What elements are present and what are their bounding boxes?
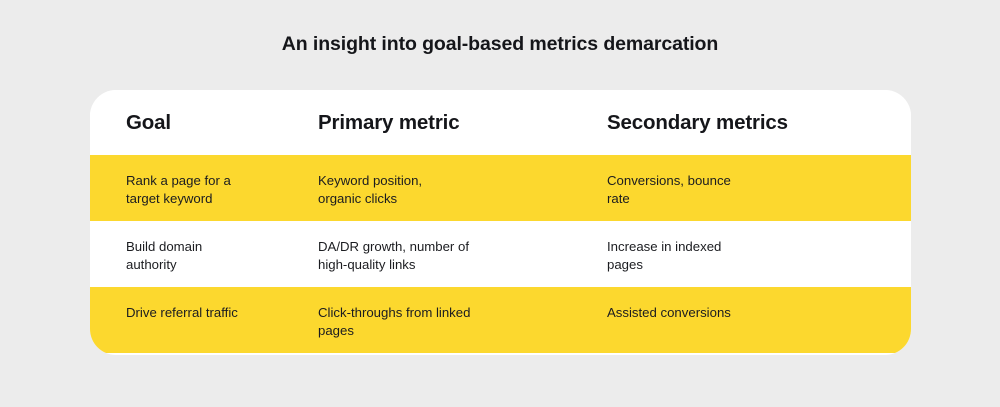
cell-text: Keyword position, organic clicks <box>318 172 593 207</box>
table-header-cell-secondary-metrics: Secondary metrics <box>607 111 911 135</box>
cell-text: Drive referral traffic <box>126 304 298 322</box>
column-header-label: Secondary metrics <box>607 111 897 135</box>
infographic-page: An insight into goal-based metrics demar… <box>0 0 1000 407</box>
cell-text: Increase in indexed pages <box>607 238 897 273</box>
cell-text: Assisted conversions <box>607 304 897 322</box>
table-row: Build domain authority DA/DR growth, num… <box>90 221 911 287</box>
table-header-row: Goal Primary metric Secondary metrics <box>90 90 911 155</box>
table-row: Drive referral traffic Click-throughs fr… <box>90 287 911 353</box>
table-row: Rank a page for a target keyword Keyword… <box>90 155 911 221</box>
table-cell-primary-metric: Keyword position, organic clicks <box>312 172 607 207</box>
table-cell-secondary-metrics: Conversions, bounce rate <box>607 172 911 207</box>
column-header-label: Primary metric <box>318 111 593 135</box>
table-header-cell-goal: Goal <box>90 111 312 135</box>
table-header-cell-primary-metric: Primary metric <box>312 111 607 135</box>
table-cell-primary-metric: Click-throughs from linked pages <box>312 304 607 339</box>
cell-text: Build domain authority <box>126 238 298 273</box>
page-title: An insight into goal-based metrics demar… <box>0 33 1000 56</box>
table-cell-primary-metric: DA/DR growth, number of high-quality lin… <box>312 238 607 273</box>
cell-text: Click-throughs from linked pages <box>318 304 593 339</box>
table-cell-secondary-metrics: Increase in indexed pages <box>607 238 911 273</box>
column-header-label: Goal <box>126 111 298 135</box>
table-cell-goal: Rank a page for a target keyword <box>90 172 312 207</box>
table-cell-secondary-metrics: Assisted conversions <box>607 304 911 322</box>
table-cell-goal: Build domain authority <box>90 238 312 273</box>
cell-text: Rank a page for a target keyword <box>126 172 298 207</box>
cell-text: DA/DR growth, number of high-quality lin… <box>318 238 593 273</box>
metrics-table-card: Goal Primary metric Secondary metrics Ra… <box>90 90 911 355</box>
table-cell-goal: Drive referral traffic <box>90 304 312 322</box>
cell-text: Conversions, bounce rate <box>607 172 897 207</box>
